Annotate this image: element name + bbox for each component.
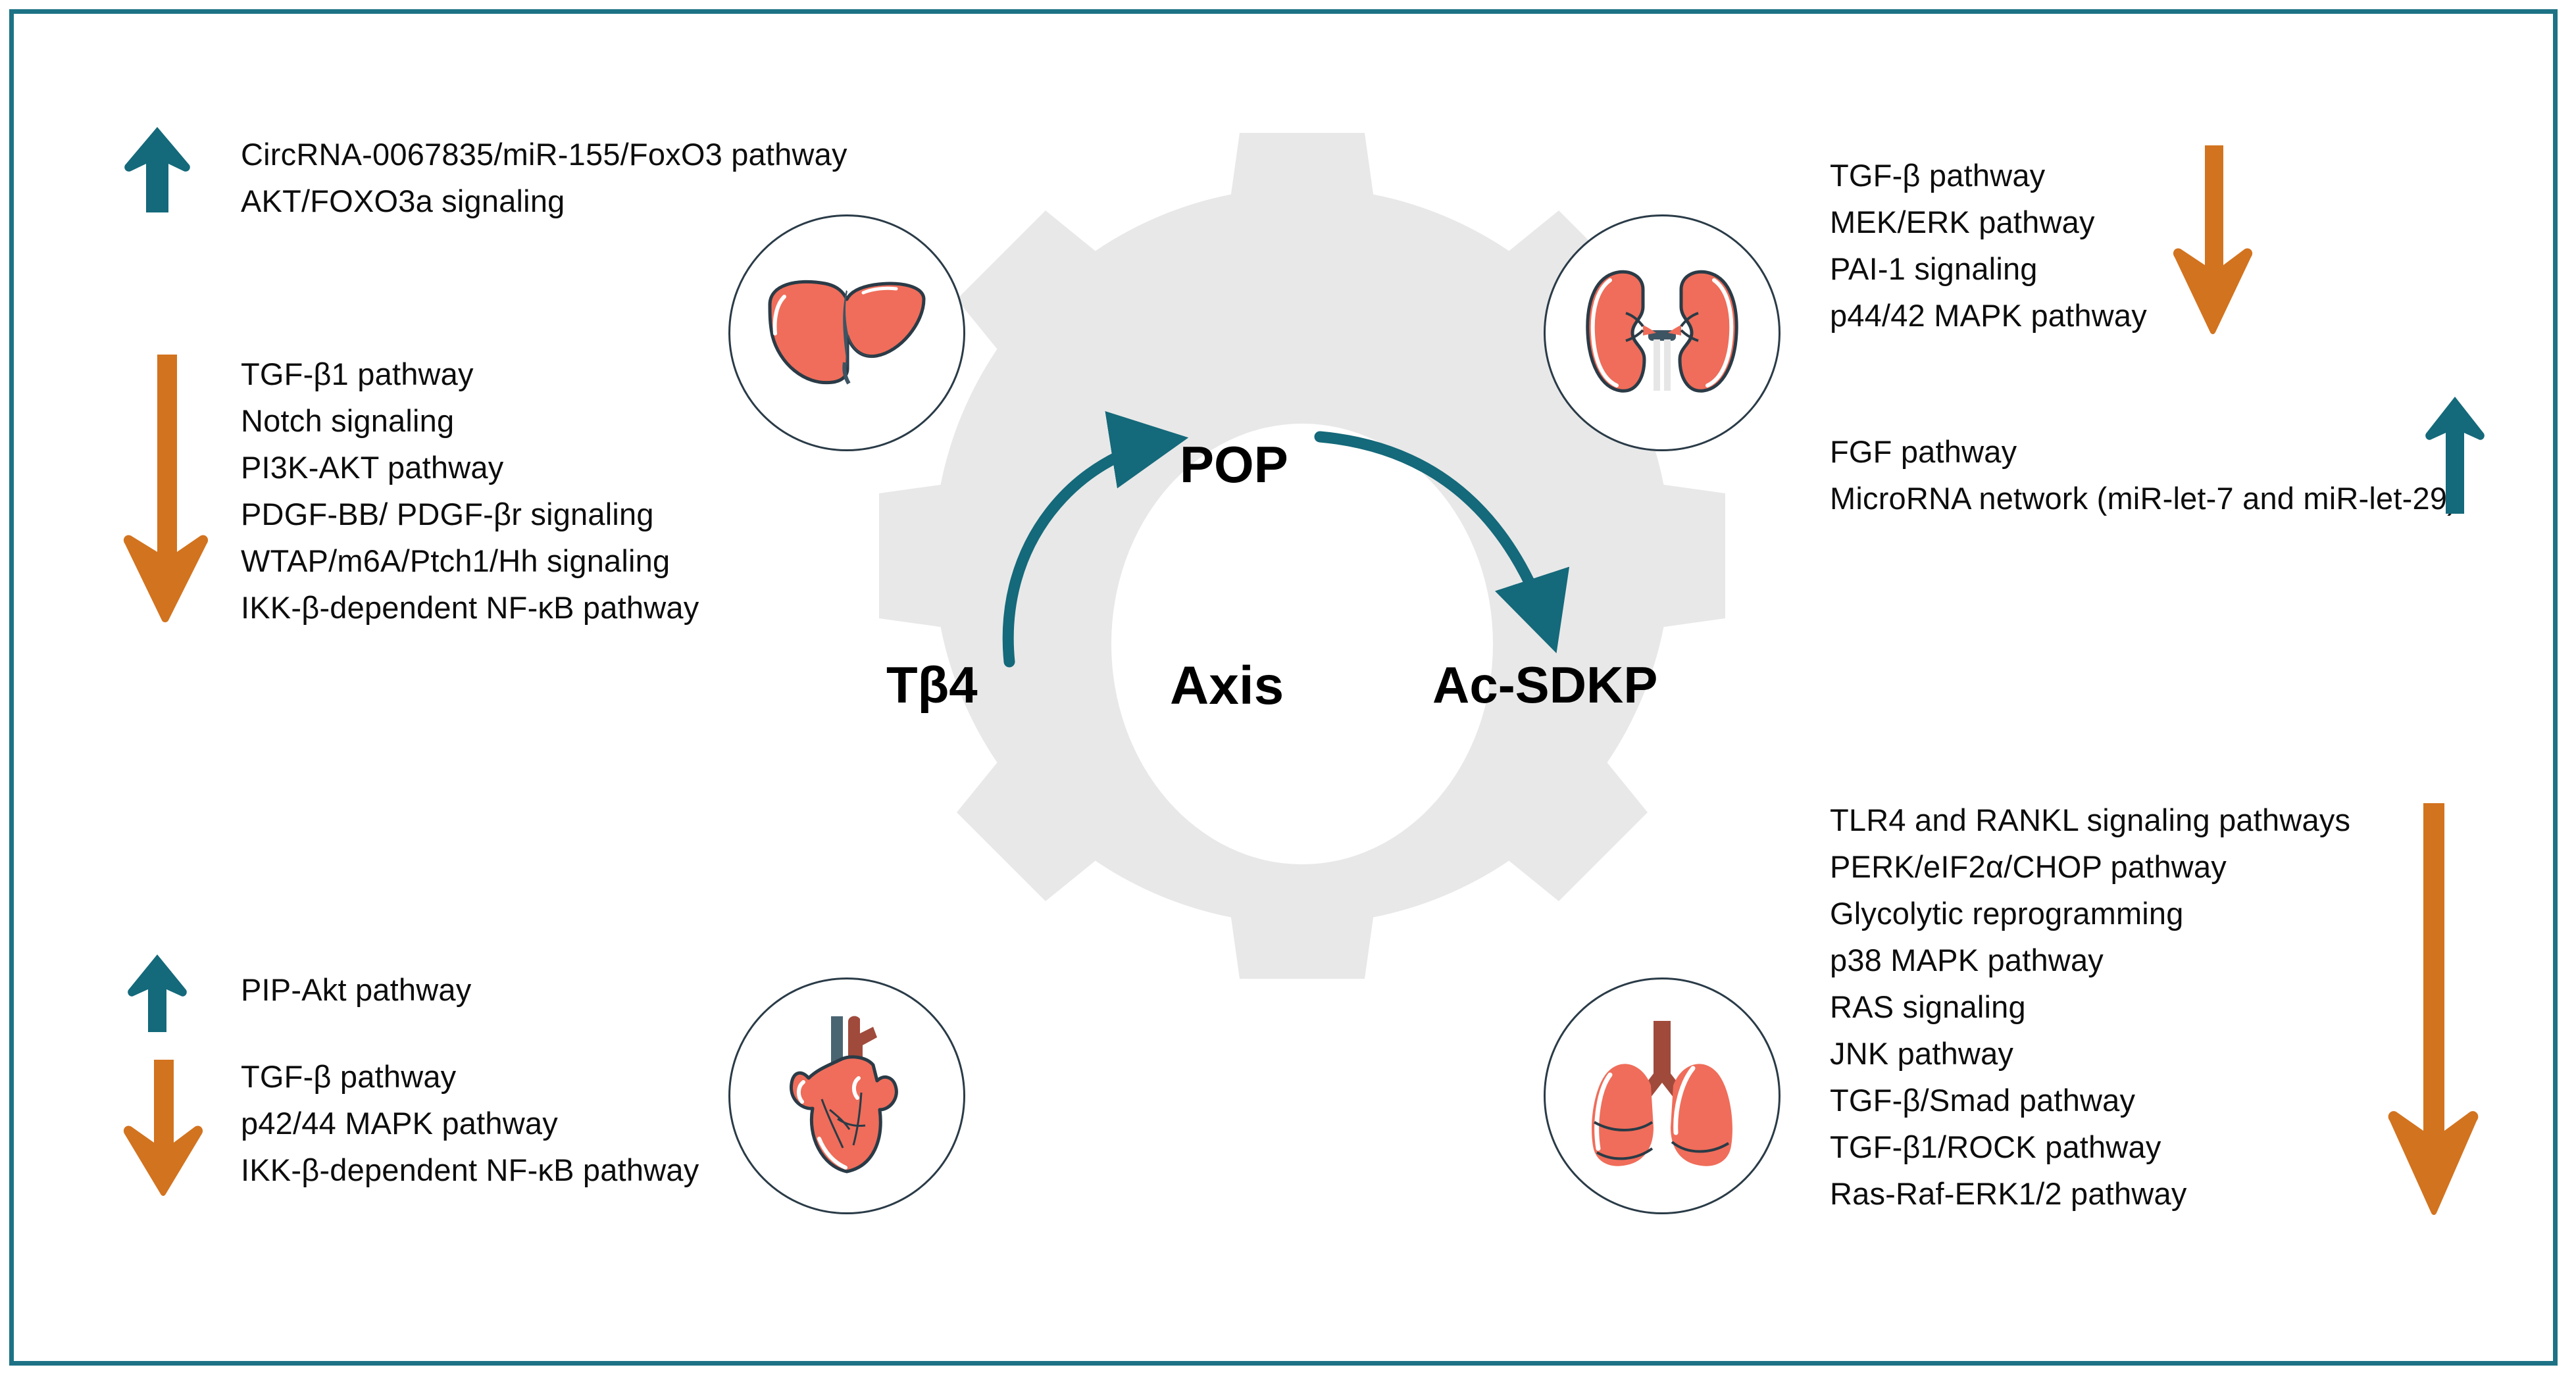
arrow-up-icon-kidney: [2422, 395, 2488, 517]
pathway-block-kidney-down: TGF-β pathway MEK/ERK pathway PAI-1 sign…: [1830, 152, 2147, 339]
pathway-line: WTAP/m6A/Ptch1/Hh signaling: [241, 537, 699, 584]
pathway-line: FGF pathway: [1830, 428, 2458, 475]
arrow-up-icon-liver: [121, 124, 193, 216]
pathway-line: TLR4 and RANKL signaling pathways: [1830, 797, 2350, 843]
pathway-line: PDGF-BB/ PDGF-βr signaling: [241, 491, 699, 537]
pathway-line: MEK/ERK pathway: [1830, 199, 2147, 245]
organ-circle-lung: [1544, 977, 1780, 1214]
pathway-line: PIP-Akt pathway: [241, 966, 471, 1013]
pathway-line: PI3K-AKT pathway: [241, 444, 699, 491]
pathway-line: CircRNA-0067835/miR-155/FoxO3 pathway: [241, 131, 847, 178]
pathway-block-kidney-up: FGF pathway MicroRNA network (miR-let-7 …: [1830, 428, 2458, 522]
organ-circle-kidney: [1544, 214, 1780, 451]
center-label-pop: POP: [1180, 435, 1288, 495]
arrow-down-icon-lung: [2384, 803, 2483, 1218]
figure-canvas: POP Tβ4 Axis Ac-SDKP: [0, 0, 2576, 1384]
liver-icon: [765, 270, 929, 395]
pathway-line: p38 MAPK pathway: [1830, 937, 2350, 983]
pathway-line: TGF-β/Smad pathway: [1830, 1077, 2350, 1124]
heart-icon: [774, 1014, 919, 1178]
pathway-line: Glycolytic reprogramming: [1830, 890, 2350, 937]
pathway-line: PERK/eIF2α/CHOP pathway: [1830, 843, 2350, 890]
pathway-line: RAS signaling: [1830, 983, 2350, 1030]
pathway-line: IKK-β-dependent NF-κB pathway: [241, 1147, 699, 1193]
pathway-line: JNK pathway: [1830, 1030, 2350, 1077]
pathway-line: MicroRNA network (miR-let-7 and miR-let-…: [1830, 475, 2458, 522]
pathway-block-liver-down: TGF-β1 pathway Notch signaling PI3K-AKT …: [241, 351, 699, 631]
pathway-line: IKK-β-dependent NF-κB pathway: [241, 584, 699, 631]
center-label-axis: Axis: [1170, 655, 1284, 717]
pathway-block-heart-up: PIP-Akt pathway: [241, 966, 471, 1013]
pathway-line: Notch signaling: [241, 397, 699, 444]
figure-border-frame: POP Tβ4 Axis Ac-SDKP: [9, 9, 2558, 1366]
pathway-block-liver-up: CircRNA-0067835/miR-155/FoxO3 pathway AK…: [241, 131, 847, 224]
arrow-down-icon-liver: [121, 355, 213, 624]
pathway-line: TGF-β pathway: [1830, 152, 2147, 199]
pathway-line: PAI-1 signaling: [1830, 245, 2147, 292]
pathway-line: TGF-β1/ROCK pathway: [1830, 1124, 2350, 1170]
kidney-icon: [1580, 267, 1744, 399]
pathway-line: p44/42 MAPK pathway: [1830, 292, 2147, 339]
pathway-block-lung-down: TLR4 and RANKL signaling pathways PERK/e…: [1830, 797, 2350, 1217]
center-label-ac-sdkp: Ac-SDKP: [1432, 655, 1657, 715]
lung-icon: [1580, 1017, 1744, 1175]
arrow-up-icon-heart: [124, 953, 190, 1035]
organ-circle-heart: [728, 977, 965, 1214]
pathway-line: TGF-β1 pathway: [241, 351, 699, 397]
pathway-line: p42/44 MAPK pathway: [241, 1100, 699, 1147]
center-label-tbeta4: Tβ4: [886, 655, 978, 715]
organ-circle-liver: [728, 214, 965, 451]
pathway-block-heart-down: TGF-β pathway p42/44 MAPK pathway IKK-β-…: [241, 1053, 699, 1193]
arrow-down-icon-heart: [121, 1060, 207, 1198]
pathway-line: AKT/FOXO3a signaling: [241, 178, 847, 224]
arrow-down-icon-kidney: [2171, 145, 2256, 336]
pathway-line: TGF-β pathway: [241, 1053, 699, 1100]
pathway-line: Ras-Raf-ERK1/2 pathway: [1830, 1170, 2350, 1217]
